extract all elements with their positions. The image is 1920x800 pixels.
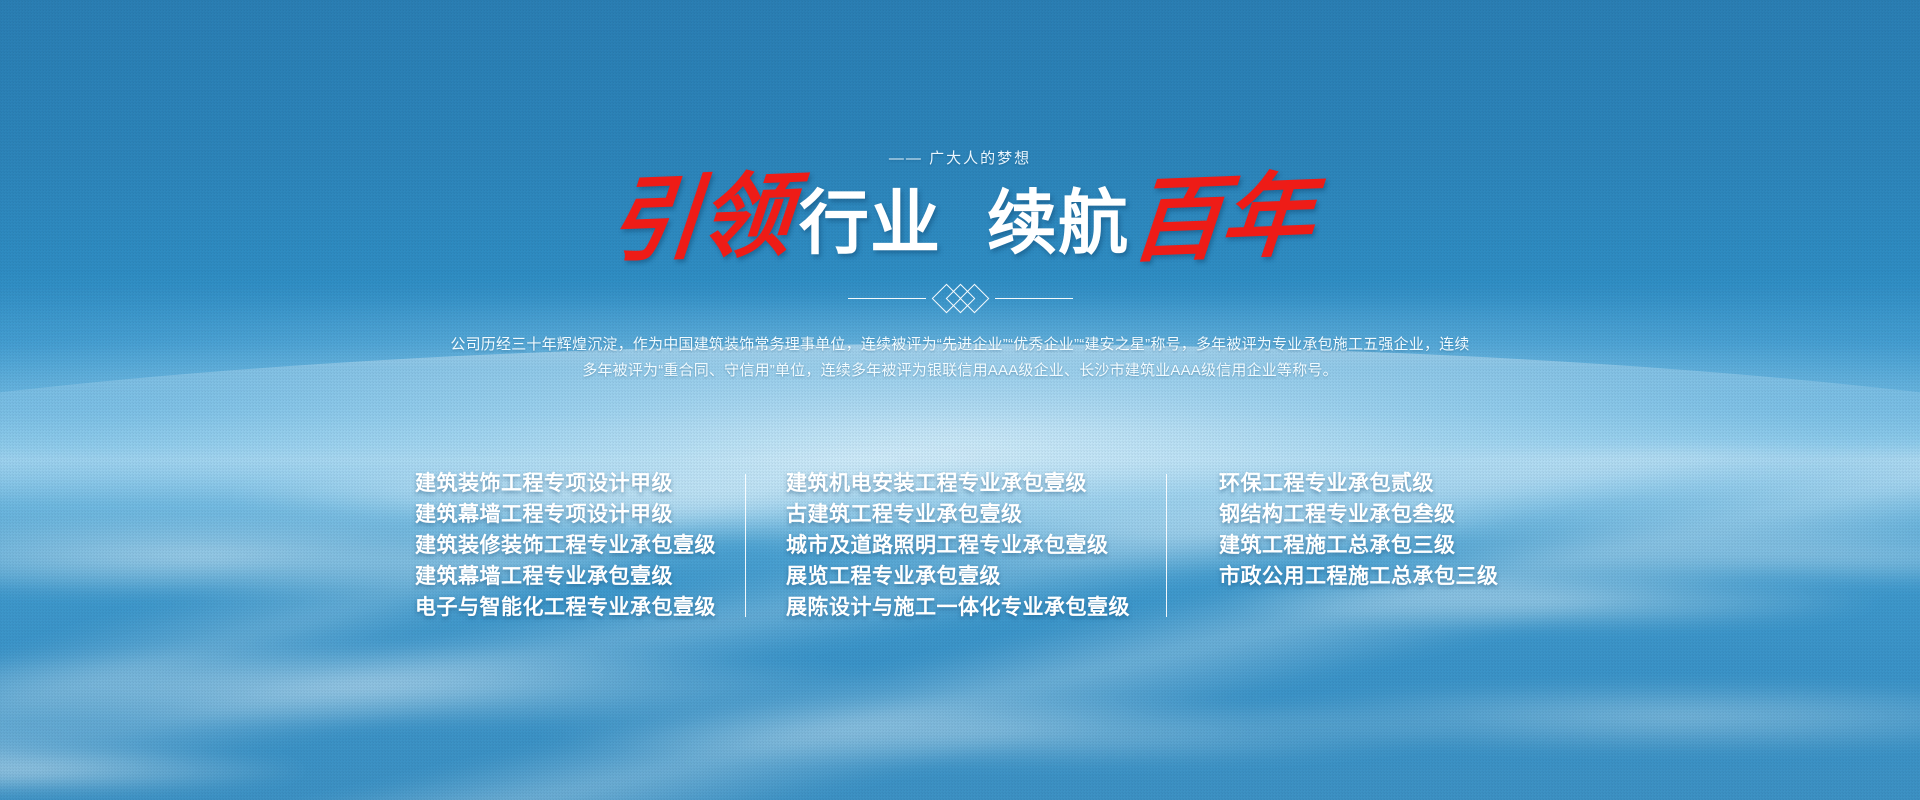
qualification-column-1: 建筑装饰工程专项设计甲级 建筑幕墙工程专项设计甲级 建筑装修装饰工程专业承包壹级… <box>401 468 745 623</box>
qualification-item: 电子与智能化工程专业承包壹级 <box>415 592 745 623</box>
qualification-item: 展览工程专业承包壹级 <box>786 561 1166 592</box>
qualification-item: 建筑装饰工程专项设计甲级 <box>415 468 745 499</box>
qualification-item: 建筑工程施工总承包三级 <box>1219 530 1519 561</box>
qualification-item: 展陈设计与施工一体化专业承包壹级 <box>786 592 1166 623</box>
qualification-item: 环保工程专业承包贰级 <box>1219 468 1519 499</box>
qualification-item: 古建筑工程专业承包壹级 <box>786 499 1166 530</box>
qualification-column-3: 环保工程专业承包贰级 钢结构工程专业承包叁级 建筑工程施工总承包三级 市政公用工… <box>1167 468 1519 592</box>
qualifications-list: 建筑装饰工程专项设计甲级 建筑幕墙工程专项设计甲级 建筑装修装饰工程专业承包壹级… <box>401 468 1519 623</box>
headline-part-endurance-white: 续航 <box>987 188 1129 258</box>
headline-part-century-red: 百年 <box>1125 169 1318 268</box>
banner-headline: 引领 行业 续航 百年 <box>0 172 1920 264</box>
description-line-1: 公司历经三十年辉煌沉淀，作为中国建筑装饰常务理事单位，连续被评为“先进企业”“优… <box>425 332 1495 358</box>
diamond-divider-icon <box>936 288 985 309</box>
divider-line-right <box>995 298 1073 299</box>
qualification-item: 城市及道路照明工程专业承包壹级 <box>786 530 1166 561</box>
qualification-item: 钢结构工程专业承包叁级 <box>1219 499 1519 530</box>
description-line-2: 多年被评为“重合同、守信用”单位，连续多年被评为银联信用AAA级企业、长沙市建筑… <box>425 358 1495 384</box>
company-description: 公司历经三十年辉煌沉淀，作为中国建筑装饰常务理事单位，连续被评为“先进企业”“优… <box>425 332 1495 384</box>
qualification-item: 建筑幕墙工程专项设计甲级 <box>415 499 745 530</box>
divider-line-left <box>848 298 926 299</box>
banner-content: —— 广大人的梦想 引领 行业 续航 百年 公司历经三十年辉煌沉淀，作为中国建筑… <box>0 0 1920 800</box>
qualification-column-2: 建筑机电安装工程专业承包壹级 古建筑工程专业承包壹级 城市及道路照明工程专业承包… <box>746 468 1166 623</box>
qualification-item: 建筑幕墙工程专业承包壹级 <box>415 561 745 592</box>
qualification-item: 市政公用工程施工总承包三级 <box>1219 561 1519 592</box>
headline-part-lead-red: 引领 <box>603 169 796 268</box>
ornament-divider <box>0 288 1920 309</box>
banner-tagline: —— 广大人的梦想 <box>0 147 1920 168</box>
headline-part-industry-white: 行业 <box>799 188 941 258</box>
qualification-item: 建筑装修装饰工程专业承包壹级 <box>415 530 745 561</box>
hero-banner: —— 广大人的梦想 引领 行业 续航 百年 公司历经三十年辉煌沉淀，作为中国建筑… <box>0 0 1920 800</box>
qualification-item: 建筑机电安装工程专业承包壹级 <box>786 468 1166 499</box>
